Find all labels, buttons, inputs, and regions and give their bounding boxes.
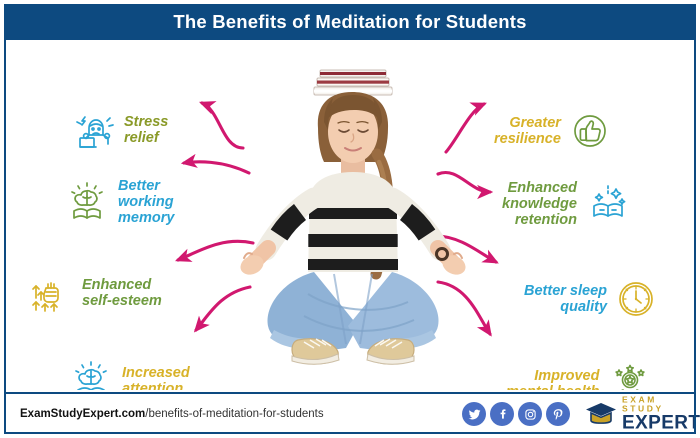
benefit-label: Improved mental health — [506, 368, 599, 390]
benefit-label: Enhanced knowledge retention — [502, 180, 577, 229]
benefit-better-working-memory: Better working memory — [64, 178, 174, 227]
graduation-cap-icon — [584, 400, 618, 428]
infographic-canvas: Stress relief Better working memory — [6, 40, 694, 390]
brand-logo[interactable]: EXAM STUDY EXPERT — [584, 396, 700, 433]
thumbs-up-circle-icon — [569, 110, 611, 152]
page-title: The Benefits of Meditation for Students — [173, 11, 526, 33]
brain-on-book-icon — [68, 358, 114, 390]
fist-with-up-arrows-icon — [28, 272, 74, 314]
benefit-label: Better working memory — [118, 178, 174, 227]
url-path: /benefits-of-meditation-for-students — [145, 408, 323, 420]
benefit-label: Enhanced self-esteem — [82, 277, 162, 309]
footer-bar: ExamStudyExpert.com/benefits-of-meditati… — [6, 392, 694, 434]
arrow-to-stress-relief — [202, 103, 243, 148]
benefit-greater-resilience: Greater resilience — [494, 110, 611, 152]
crossed-legs-jeans — [267, 272, 438, 350]
benefit-label: Better sleep quality — [524, 283, 607, 315]
benefit-better-sleep-quality: Better sleep quality — [524, 278, 657, 320]
brain-on-book-icon — [64, 179, 110, 225]
stacked-books — [314, 70, 392, 95]
infographic-poster: The Benefits of Meditation for Students — [0, 0, 700, 438]
instagram-icon[interactable] — [518, 402, 542, 426]
hands-holding-medal-icon — [607, 362, 653, 390]
header-banner: The Benefits of Meditation for Students — [4, 4, 696, 40]
logo-bottom-text: EXPERT — [622, 414, 700, 433]
benefit-enhanced-knowledge-retention: Enhanced knowledge retention — [502, 180, 631, 229]
url-domain: ExamStudyExpert.com — [20, 408, 145, 420]
social-links — [462, 402, 570, 426]
benefit-increased-attention: Increased attention — [68, 358, 190, 390]
sneakers — [292, 339, 414, 365]
sweater — [308, 172, 398, 272]
sparkling-book-icon — [585, 182, 631, 226]
logo-top-text: EXAM STUDY — [622, 396, 700, 413]
source-url[interactable]: ExamStudyExpert.com/benefits-of-meditati… — [20, 408, 324, 420]
facebook-icon[interactable] — [490, 402, 514, 426]
pinterest-icon[interactable] — [546, 402, 570, 426]
benefit-label: Greater resilience — [494, 115, 561, 147]
twitter-icon[interactable] — [462, 402, 486, 426]
benefit-stress-relief: Stress relief — [72, 108, 168, 152]
meditating-student-photo — [238, 58, 468, 388]
clock-icon — [615, 278, 657, 320]
benefit-improved-mental-health: Improved mental health — [506, 362, 653, 390]
sweater-stripes — [308, 208, 398, 270]
benefit-label: Increased attention — [122, 365, 190, 390]
benefit-label: Stress relief — [124, 114, 168, 146]
benefit-enhanced-self-esteem: Enhanced self-esteem — [28, 272, 162, 314]
stressed-person-at-laptop-icon — [72, 108, 116, 152]
logo-wordmark: EXAM STUDY EXPERT — [622, 396, 700, 433]
